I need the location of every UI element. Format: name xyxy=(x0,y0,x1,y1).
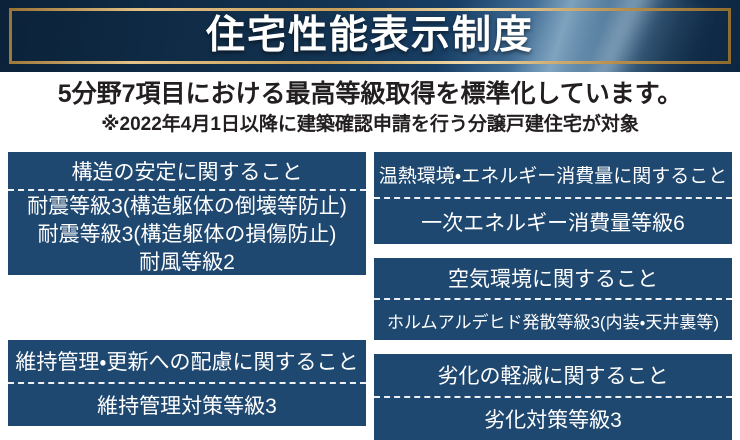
page-title: 住宅性能表示制度 xyxy=(0,9,740,63)
subtitle-block: 5分野7項目における最高等級取得を標準化しています。 ※2022年4月1日以降に… xyxy=(0,78,740,140)
category-item: ホルムアルデヒド発散等級3(内装・天井裏等) xyxy=(374,298,732,340)
category-group-air: 空気環境に関すること ホルムアルデヒド発散等級3(内装・天井裏等) xyxy=(374,258,732,340)
header-banner: 住宅性能表示制度 xyxy=(0,0,740,72)
category-group-degradation: 劣化の軽減に関すること 劣化対策等級3 xyxy=(374,354,732,440)
category-header: 空気環境に関すること xyxy=(374,258,732,298)
category-header: 構造の安定に関すること xyxy=(8,152,366,189)
table-column-right: 温熱環境・エネルギー消費量に関すること 一次エネルギー消費量等級6 空気環境に関… xyxy=(374,152,732,426)
column-spacer xyxy=(8,282,366,333)
category-header: 維持管理・更新への配慮に関すること xyxy=(8,340,366,382)
performance-table: 構造の安定に関すること 耐震等級3(構造躯体の倒壊等防止) 耐震等級3(構造躯体… xyxy=(8,152,732,426)
category-header: 温熱環境・エネルギー消費量に関すること xyxy=(374,152,732,197)
category-item: 劣化対策等級3 xyxy=(374,396,732,440)
category-header: 劣化の軽減に関すること xyxy=(374,354,732,396)
category-group-structure: 構造の安定に関すること 耐震等級3(構造躯体の倒壊等防止) 耐震等級3(構造躯体… xyxy=(8,152,366,275)
subtitle-note-line: ※2022年4月1日以降に建築確認申請を行う分譲戸建住宅が対象 xyxy=(0,110,740,140)
category-group-maintenance: 維持管理・更新への配慮に関すること 維持管理対策等級3 xyxy=(8,340,366,426)
category-item: 耐震等級3(構造躯体の倒壊等防止) xyxy=(8,189,366,219)
category-item: 一次エネルギー消費量等級6 xyxy=(374,197,732,244)
subtitle-main-line: 5分野7項目における最高等級取得を標準化しています。 xyxy=(0,78,740,110)
category-item: 維持管理対策等級3 xyxy=(8,382,366,426)
category-item: 耐風等級2 xyxy=(8,247,366,275)
table-column-left: 構造の安定に関すること 耐震等級3(構造躯体の倒壊等防止) 耐震等級3(構造躯体… xyxy=(8,152,366,426)
category-group-thermal: 温熱環境・エネルギー消費量に関すること 一次エネルギー消費量等級6 xyxy=(374,152,732,244)
category-item: 耐震等級3(構造躯体の損傷防止) xyxy=(8,219,366,247)
